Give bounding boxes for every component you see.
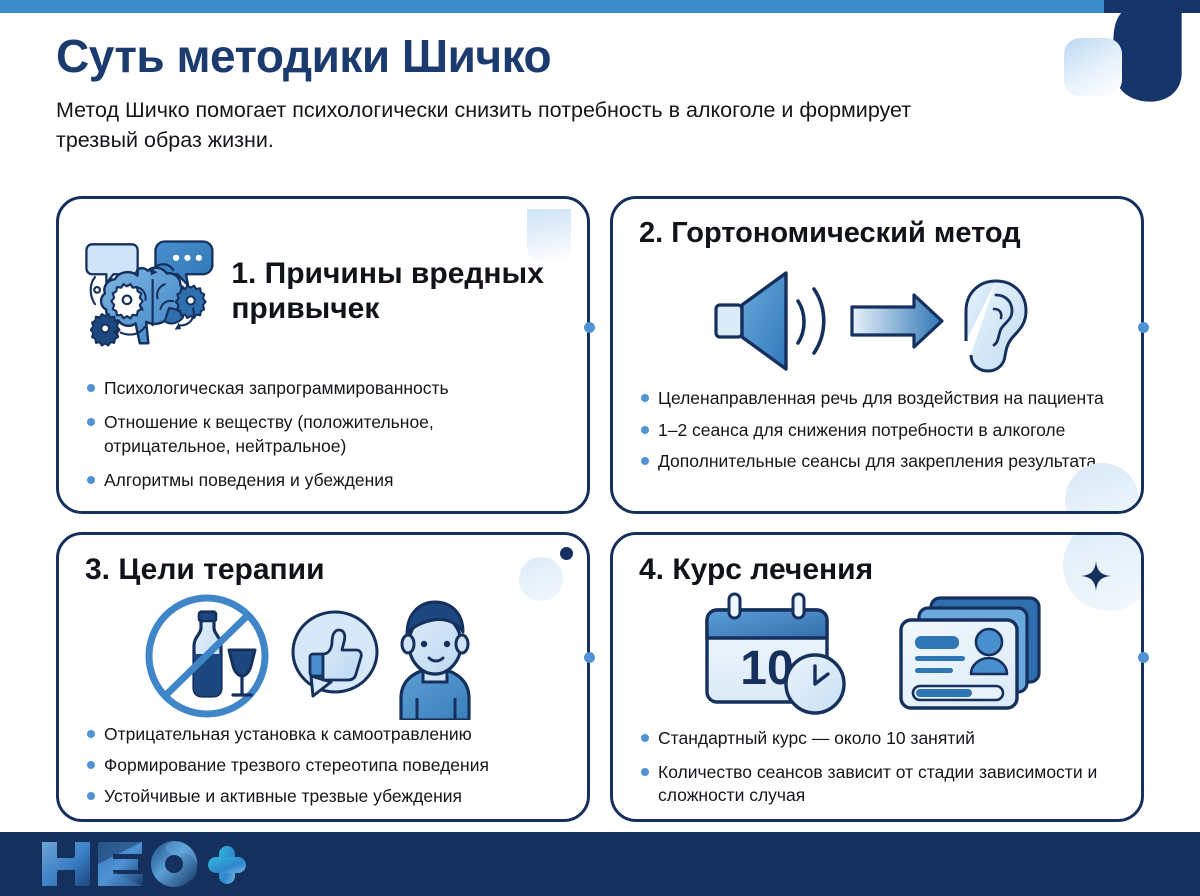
no-alcohol-thumbsup-person-icon bbox=[145, 592, 505, 720]
list-item: Стандартный курс — около 10 занятий bbox=[639, 727, 1119, 750]
card2-border-notch bbox=[1137, 343, 1144, 373]
list-item: Отрицательная установка к самоотравлению bbox=[85, 723, 565, 746]
card-causes-of-bad-habits[interactable]: 1. Причины вредных привычек Психологичес… bbox=[56, 196, 590, 514]
card4-bullet-list: Стандартный курс — около 10 занятий Коли… bbox=[639, 727, 1119, 808]
card1-border-notch bbox=[583, 343, 590, 373]
card3-bullet-list: Отрицательная установка к самоотравлению… bbox=[85, 723, 565, 809]
list-item: Формирование трезвого стереотипа поведен… bbox=[85, 754, 565, 777]
neo-plus-logo bbox=[36, 838, 266, 890]
calendar-clock-cards-icon: 10 bbox=[689, 592, 1069, 718]
card3-circle-decoration bbox=[519, 557, 563, 601]
card4-edge-dot bbox=[1138, 652, 1149, 663]
card-title-4: 4. Курс лечения bbox=[639, 553, 873, 587]
top-accent-bar bbox=[0, 0, 1200, 13]
card3-edge-dot bbox=[584, 652, 595, 663]
list-item: Алгоритмы поведения и убеждения bbox=[85, 469, 565, 492]
list-item: Устойчивые и активные трезвые убеждения bbox=[85, 785, 565, 808]
card-therapy-goals[interactable]: 3. Цели терапии bbox=[56, 532, 590, 822]
card-title-2: 2. Гортономический метод bbox=[639, 217, 1021, 249]
page-header: Суть методики Шичко Метод Шичко помогает… bbox=[56, 32, 1056, 156]
card3-navy-dot-decoration bbox=[560, 547, 573, 560]
card-hortonomic-method[interactable]: 2. Гортономический метод bbox=[610, 196, 1144, 514]
card4-border-notch bbox=[1137, 666, 1144, 696]
list-item: Целенаправленная речь для воздействия на… bbox=[639, 387, 1119, 410]
card-title-1: 1. Причины вредных привычек bbox=[231, 257, 565, 327]
card1-edge-dot bbox=[584, 322, 595, 333]
list-item: Количество сеансов зависит от стадии зав… bbox=[639, 761, 1119, 808]
list-item: Психологическая запрограммированность bbox=[85, 377, 565, 400]
speaker-arrow-ear-icon bbox=[714, 267, 1044, 377]
card-treatment-course[interactable]: 4. Курс лечения bbox=[610, 532, 1144, 822]
card1-bullet-list: Психологическая запрограммированность От… bbox=[85, 377, 565, 492]
card2-edge-dot bbox=[1138, 322, 1149, 333]
footer-bar bbox=[0, 832, 1200, 896]
brain-gears-speech-bubbles-icon bbox=[85, 219, 227, 365]
card4-sparkle-icon bbox=[1081, 561, 1111, 591]
card-title-3: 3. Цели терапии bbox=[85, 553, 325, 587]
list-item: Отношение к веществу (положительное, отр… bbox=[85, 411, 565, 458]
card1-square-decoration bbox=[527, 209, 571, 261]
corner-light-square-decoration bbox=[1064, 38, 1122, 96]
list-item: Дополнительные сеансы для закрепления ре… bbox=[639, 450, 1119, 473]
page-subtitle: Метод Шичко помогает психологически сниз… bbox=[56, 95, 916, 156]
card2-bullet-list: Целенаправленная речь для воздействия на… bbox=[639, 387, 1119, 473]
page-title: Суть методики Шичко bbox=[56, 32, 1056, 81]
list-item: 1–2 сеанса для снижения потребности в ал… bbox=[639, 419, 1119, 442]
card3-border-notch bbox=[583, 666, 590, 696]
